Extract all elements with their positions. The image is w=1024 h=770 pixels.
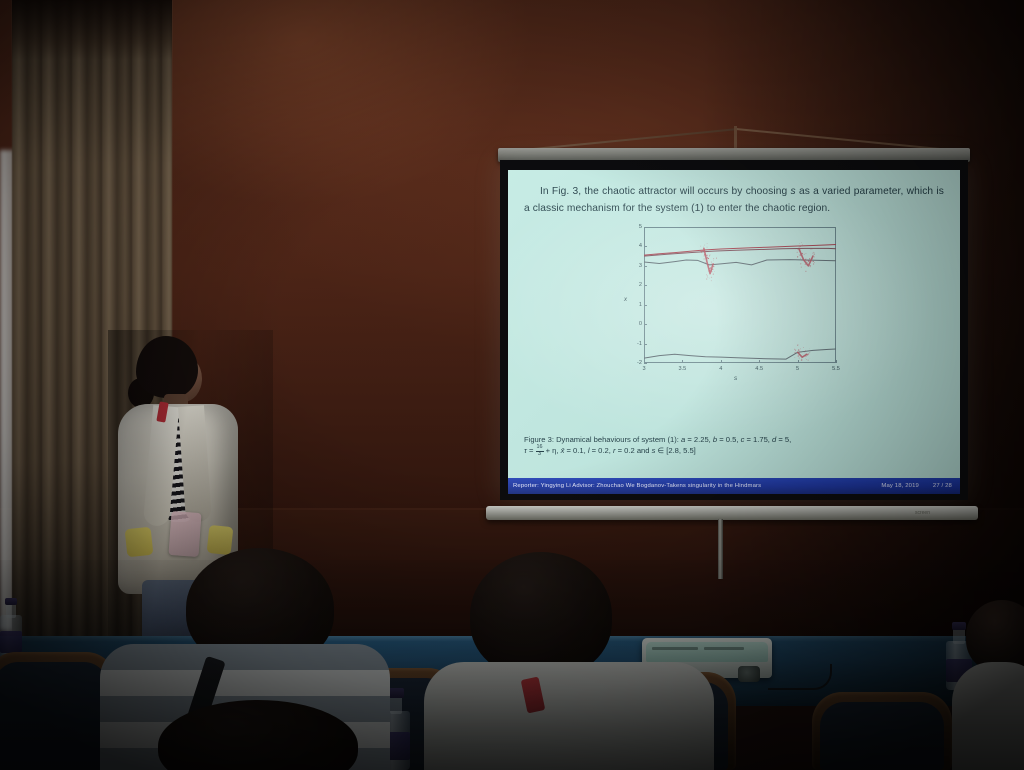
chart-chaotic-point [804,352,805,353]
chart-x-tick-label: 3.5 [672,366,692,372]
slide-surface: In Fig. 3, the chaotic attractor will oc… [508,170,960,494]
chart-chaotic-point [799,353,800,354]
chart-chaotic-point [805,253,806,254]
chart-chaotic-point [808,353,809,354]
chart-chaotic-point [806,258,807,259]
chart-chaotic-point [801,267,802,268]
bifurcation-chart: x s -2-1012345 33.544.555.5 [622,223,846,387]
chart-chaotic-point [799,358,800,359]
chart-chaotic-point [801,242,802,243]
chart-x-tick-label: 5.5 [826,366,846,372]
chart-chaotic-point [801,359,802,360]
chart-chaotic-point [797,249,798,250]
chart-chaotic-point [706,250,707,251]
chart-chaotic-point [811,260,812,261]
chart-series-upper-branch-second [644,248,836,256]
chart-chaotic-point [709,278,710,279]
chart-y-tick-label: 1 [626,302,642,308]
chart-chaotic-point [799,351,800,352]
chart-x-tick-mark [644,360,645,363]
chart-chaotic-point [704,255,705,256]
chart-y-tick-mark [644,246,647,247]
chart-y-tick-mark [644,285,647,286]
chart-chaotic-point [805,259,806,260]
chart-chaotic-point [805,350,806,351]
chart-x-tick-mark [836,360,837,363]
chart-y-tick-label: -1 [626,341,642,347]
chart-chaotic-point [713,266,714,267]
chart-y-tick-mark [644,266,647,267]
chart-x-tick-label: 4.5 [749,366,769,372]
chart-chaotic-point [707,258,708,259]
paragraph-part-1: In Fig. 3, the chaotic attractor will oc… [540,186,791,197]
chart-chaotic-point [701,251,702,252]
chart-chaotic-point [711,280,712,281]
chart-chaotic-point [799,246,800,247]
bottle-cap [5,598,17,605]
slide-paragraph: In Fig. 3, the chaotic attractor will oc… [524,184,944,217]
chart-chaotic-point [711,262,712,263]
chart-chaotic-point [713,258,714,259]
chart-y-tick-mark [644,363,647,364]
chart-chaotic-point [716,258,717,259]
chart-chaotic-point [808,261,809,262]
chart-chaotic-point [800,349,801,350]
caption-equals: = [527,447,536,456]
fraction-denominator: 3 [536,452,544,458]
chart-chaotic-point [795,352,796,353]
chart-y-tick-label: 2 [626,282,642,288]
chart-chaotic-point [802,253,803,254]
caption-param-b-value: = 0.5, [717,435,740,444]
chart-chaotic-point [701,252,702,253]
chart-chaotic-point [706,279,707,280]
chart-chaotic-point [702,250,703,251]
chart-chaotic-point [711,269,712,270]
caption-param-d-value: = 5, [776,435,791,444]
chart-chaotic-point [797,256,798,257]
chart-chaotic-point [800,248,801,249]
chart-chaotic-point [805,353,806,354]
chart-y-tick-label: 5 [626,224,642,230]
chart-y-tick-mark [644,227,647,228]
chart-chaotic-point [809,258,810,259]
chart-chaotic-point [797,345,798,346]
chart-chaotic-point [814,254,815,255]
caption-param-xbar-value: = 0.1, [564,447,587,456]
bottle-label [0,631,22,652]
chart-chaotic-point [703,247,704,248]
footer-date: May 18, 2019 [881,483,919,489]
chart-series-svg [644,227,836,363]
chart-chaotic-point [798,344,799,345]
chart-y-tick-mark [644,324,647,325]
chart-y-tick-mark [644,305,647,306]
chart-x-axis-label: s [734,375,737,382]
audience-front-person [158,700,398,770]
chart-chaotic-point [810,266,811,267]
chart-chaotic-point [805,356,806,357]
chart-chaotic-point [708,270,709,271]
chart-chaotic-point [713,274,714,275]
figure-caption: Figure 3: Dynamical behaviours of system… [524,434,946,458]
caption-line1-lead: Figure 3: Dynamical behaviours of system… [524,435,681,444]
chart-chaotic-point [711,261,712,262]
chart-chaotic-point [807,262,808,263]
chart-chaotic-point [811,258,812,259]
chart-chaotic-point [800,258,801,259]
chart-chaotic-point [707,257,708,258]
bottle-neck [6,603,16,618]
chart-chaotic-point [798,349,799,350]
audience-shirt [952,662,1024,770]
chart-chaotic-point [709,255,710,256]
chart-chaotic-point [707,247,708,248]
chart-chaotic-point [711,271,712,272]
chart-chaotic-point [805,358,806,359]
caption-param-r-value: = 0.2 and [616,447,652,456]
chart-chaotic-point [710,267,711,268]
chart-chaotic-point [799,351,800,352]
chart-chaotic-point [713,261,714,262]
chart-x-tick-label: 3 [634,366,654,372]
chart-chaotic-point [712,264,713,265]
chart-chaotic-point [801,359,802,360]
conference-room-photo: In Fig. 3, the chaotic attractor will oc… [0,0,1024,770]
chart-chaotic-point [708,277,709,278]
chart-chaotic-point [814,252,815,253]
chart-chaotic-point [800,249,801,250]
chart-chaotic-point [805,263,806,264]
projector-cable [768,664,832,690]
audience-white-shirt-person [424,552,724,770]
chart-chaotic-point [799,354,800,355]
chart-chaotic-point [808,360,809,361]
chart-x-tick-mark [798,360,799,363]
chart-chaotic-point [806,359,807,360]
chart-chaotic-point [802,244,803,245]
caption-plus-eta: + η, [544,447,561,456]
chart-chaotic-point [700,246,701,247]
chart-chaotic-point [795,350,796,351]
chart-y-tick-mark [644,344,647,345]
chart-chaotic-point [804,254,805,255]
chart-y-tick-label: 3 [626,263,642,269]
screen-bottom-weight-bar: screen [486,506,978,520]
chart-chaotic-point [811,261,812,262]
chart-chaotic-point [814,262,815,263]
chart-chaotic-point [813,264,814,265]
chart-chaotic-point [809,352,810,353]
chart-chaotic-point [798,355,799,356]
chart-chaotic-point [813,263,814,264]
chart-chaotic-point [794,357,795,358]
chart-chaotic-point [712,269,713,270]
chart-y-tick-label: 4 [626,243,642,249]
chart-chaotic-point [714,271,715,272]
projection-screen: In Fig. 3, the chaotic attractor will oc… [500,160,968,500]
slide-body: In Fig. 3, the chaotic attractor will oc… [508,170,960,387]
chart-chaotic-point [806,261,807,262]
presenter-hair [136,336,198,398]
chart-chaotic-point [810,249,811,250]
caption-fraction: 163 [536,445,544,457]
chair-seat-back [820,702,944,770]
chart-chaotic-point [709,264,710,265]
projector-lens [738,666,760,682]
screen-brand-logo: screen [915,510,930,516]
slide-footer-bar: Reporter: Yingying Li Advisor: Zhouchao … [508,478,960,494]
caption-param-c-value: = 1.75, [744,435,772,444]
caption-param-a-value: = 2.25, [685,435,713,444]
chart-chaotic-point [811,249,812,250]
chart-x-tick-mark [721,360,722,363]
chart-chaotic-point [810,265,811,266]
chart-chaotic-point [812,253,813,254]
chart-chaotic-point [798,352,799,353]
chart-chaotic-point [711,270,712,271]
chart-chaotic-point [794,349,795,350]
chart-chaotic-point [704,255,705,256]
audience-head [158,700,358,770]
chart-chaotic-point [703,258,704,259]
chart-x-tick-mark [759,360,760,363]
footer-reporter-advisor: Reporter: Yingying Li Advisor: Zhouchao … [513,483,881,489]
chart-chaotic-point [711,277,712,278]
chart-y-tick-label: 0 [626,321,642,327]
chart-chaotic-point [707,243,708,244]
chart-chaotic-point [806,260,807,261]
chart-x-tick-label: 5 [788,366,808,372]
chart-chaotic-point [803,347,804,348]
chart-chaotic-point [705,254,706,255]
chart-chaotic-point [707,276,708,277]
chart-chaotic-point [804,351,805,352]
chart-chaotic-point [801,260,802,261]
chart-chaotic-point [705,262,706,263]
chart-chaotic-point [797,252,798,253]
chart-chaotic-point [813,261,814,262]
chart-chaotic-point [703,250,704,251]
audience-right-person [956,600,1024,770]
chart-x-tick-mark [682,360,683,363]
chart-chaotic-point [706,255,707,256]
audience-head [470,552,612,678]
chart-chaotic-point [795,350,796,351]
chair-far-right [812,692,952,770]
chart-chaotic-point [704,245,705,246]
audience-white-shirt [424,662,714,770]
chart-chaotic-point [710,255,711,256]
chart-chaotic-point [800,263,801,264]
caption-param-l-value: = 0.2, [590,447,613,456]
bottle-cap [388,688,404,698]
water-bottle-left [0,598,22,660]
chart-chaotic-point [799,243,800,244]
chart-chaotic-point [706,258,707,259]
footer-page-number: 27 / 28 [933,483,952,489]
chart-chaotic-point [799,247,800,248]
chart-chaotic-point [805,271,806,272]
chart-chaotic-point [807,354,808,355]
chart-x-tick-label: 4 [711,366,731,372]
chart-chaotic-point [814,256,815,257]
chart-chaotic-point [706,274,707,275]
chart-chaotic-point [800,254,801,255]
chart-chaotic-point [806,265,807,266]
chart-chaotic-point [801,253,802,254]
caption-s-range: ∈ [2.8, 5.5] [655,447,695,456]
chart-chaotic-point [714,264,715,265]
